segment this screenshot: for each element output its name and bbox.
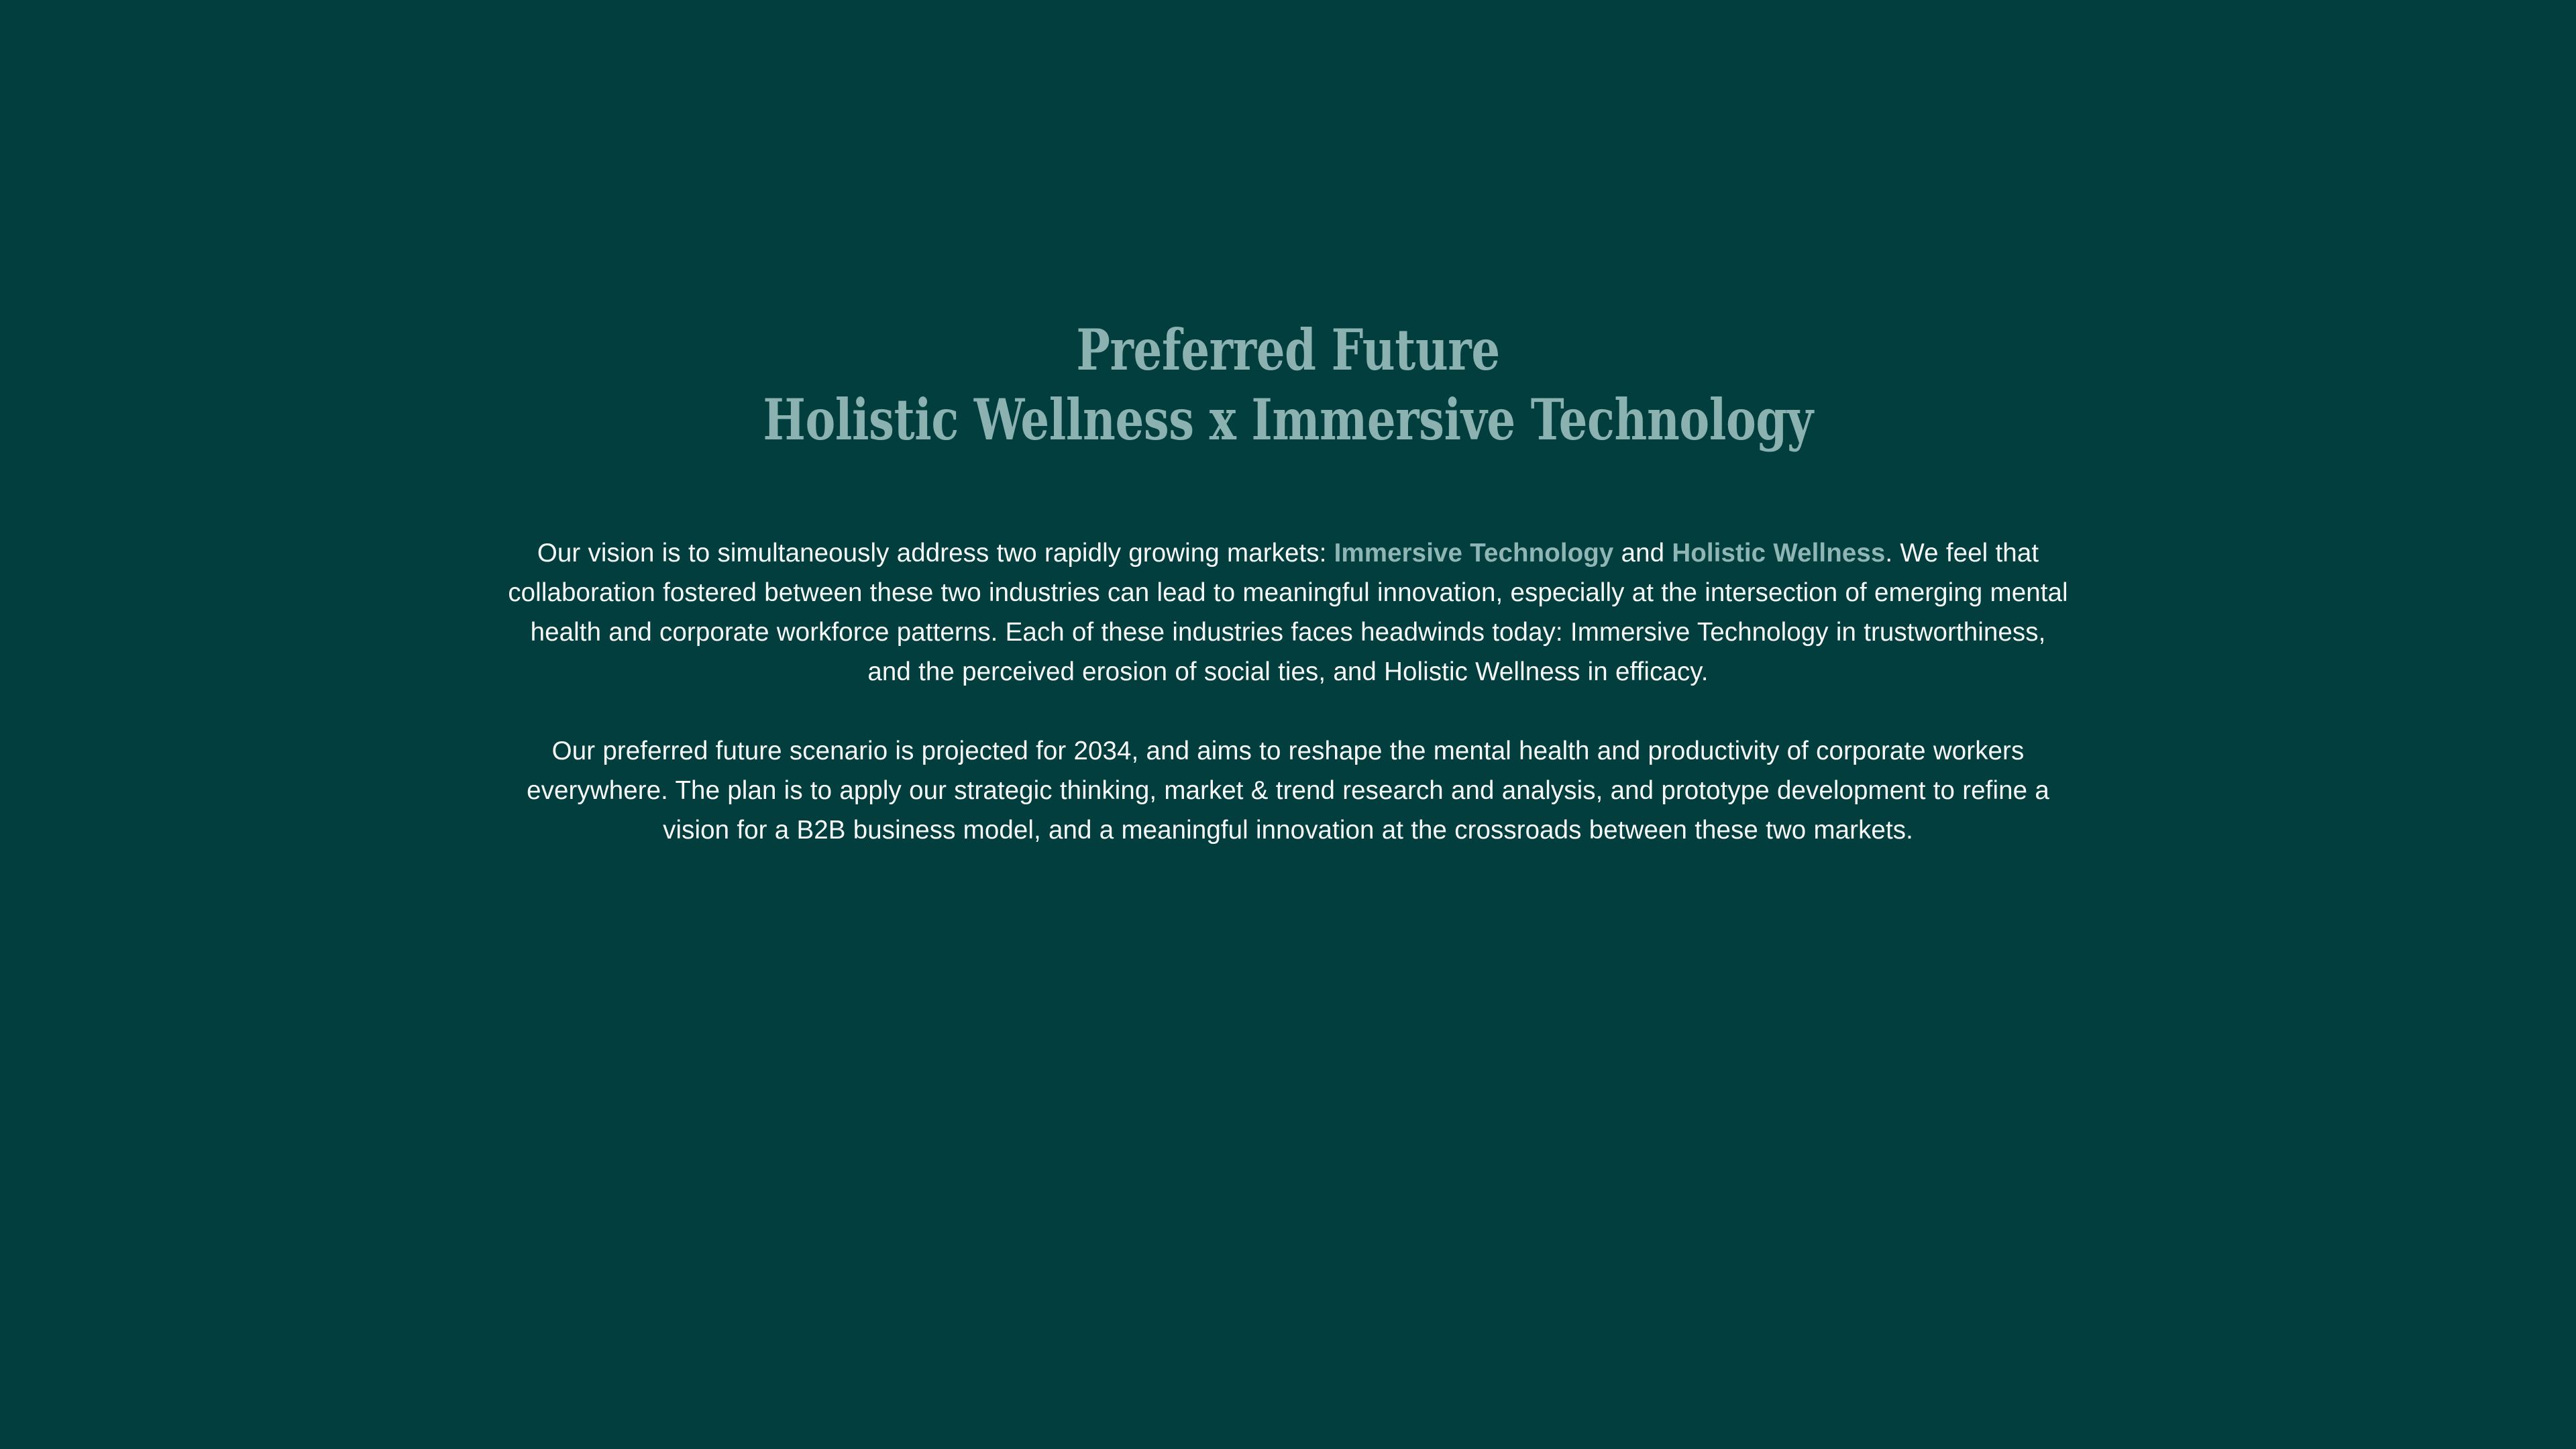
accent-term-immersive-technology: Immersive Technology [1334, 539, 1614, 568]
page-title-line-1: Preferred Future [258, 315, 2318, 385]
paragraph-2-text: Our preferred future scenario is project… [527, 737, 2049, 845]
slide-canvas: Preferred Future Holistic Wellness x Imm… [0, 0, 2576, 1449]
body-paragraph-1: Our vision is to simultaneously address … [506, 533, 2070, 692]
accent-term-holistic-wellness: Holistic Wellness [1672, 539, 1885, 568]
body-paragraph-2: Our preferred future scenario is project… [506, 731, 2070, 850]
paragraph-1-segment-2: and [1613, 539, 1672, 568]
paragraph-1-segment-1: Our vision is to simultaneously address … [537, 539, 1334, 568]
slide-body-block: Our vision is to simultaneously address … [506, 533, 2070, 850]
page-title-line-2: Holistic Wellness x Immersive Technology [258, 385, 2318, 455]
slide-title-block: Preferred Future Holistic Wellness x Imm… [0, 315, 2576, 455]
